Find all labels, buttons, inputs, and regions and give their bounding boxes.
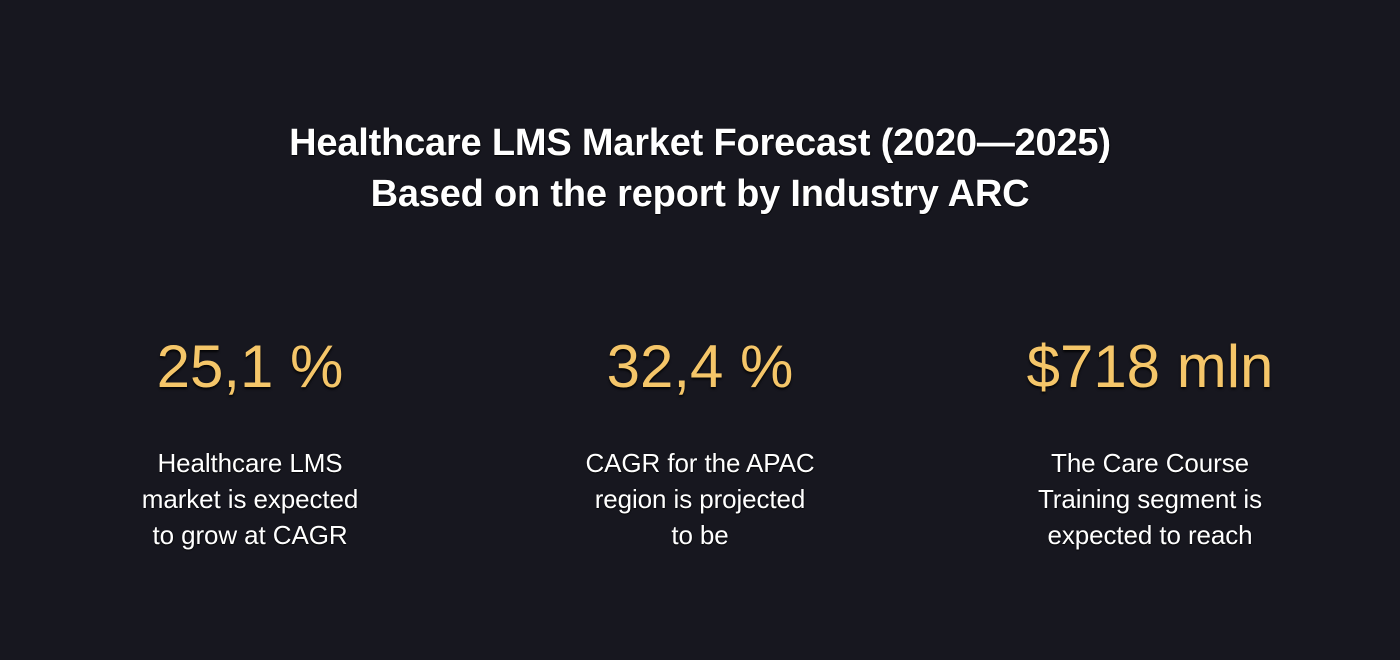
stat-card-apac-cagr: 32,4 % CAGR for the APAC region is proje… bbox=[475, 336, 925, 553]
stat-description-line-1: CAGR for the APAC bbox=[475, 445, 925, 481]
slide-title: Healthcare LMS Market Forecast (2020—202… bbox=[0, 118, 1400, 220]
stat-value: 32,4 % bbox=[475, 336, 925, 398]
stat-description: The Care Course Training segment is expe… bbox=[925, 445, 1375, 553]
title-line-2: Based on the report by Industry ARC bbox=[0, 169, 1400, 220]
stat-description: CAGR for the APAC region is projected to… bbox=[475, 445, 925, 553]
stat-card-care-course-training: $718 mln The Care Course Training segmen… bbox=[925, 336, 1375, 553]
stat-description-line-1: The Care Course bbox=[925, 445, 1375, 481]
stat-description-line-2: region is projected bbox=[475, 481, 925, 517]
stat-description-line-3: to grow at CAGR bbox=[25, 517, 475, 553]
slide-canvas: Healthcare LMS Market Forecast (2020—202… bbox=[0, 0, 1400, 660]
stat-description-line-2: market is expected bbox=[25, 481, 475, 517]
stat-description-line-3: to be bbox=[475, 517, 925, 553]
statistics-row: 25,1 % Healthcare LMS market is expected… bbox=[25, 336, 1375, 553]
stat-card-healthcare-lms-cagr: 25,1 % Healthcare LMS market is expected… bbox=[25, 336, 475, 553]
title-line-1: Healthcare LMS Market Forecast (2020—202… bbox=[0, 118, 1400, 169]
stat-description-line-1: Healthcare LMS bbox=[25, 445, 475, 481]
stat-description: Healthcare LMS market is expected to gro… bbox=[25, 445, 475, 553]
stat-description-line-2: Training segment is bbox=[925, 481, 1375, 517]
stat-value: $718 mln bbox=[925, 336, 1375, 398]
stat-value: 25,1 % bbox=[25, 336, 475, 398]
stat-description-line-3: expected to reach bbox=[925, 517, 1375, 553]
